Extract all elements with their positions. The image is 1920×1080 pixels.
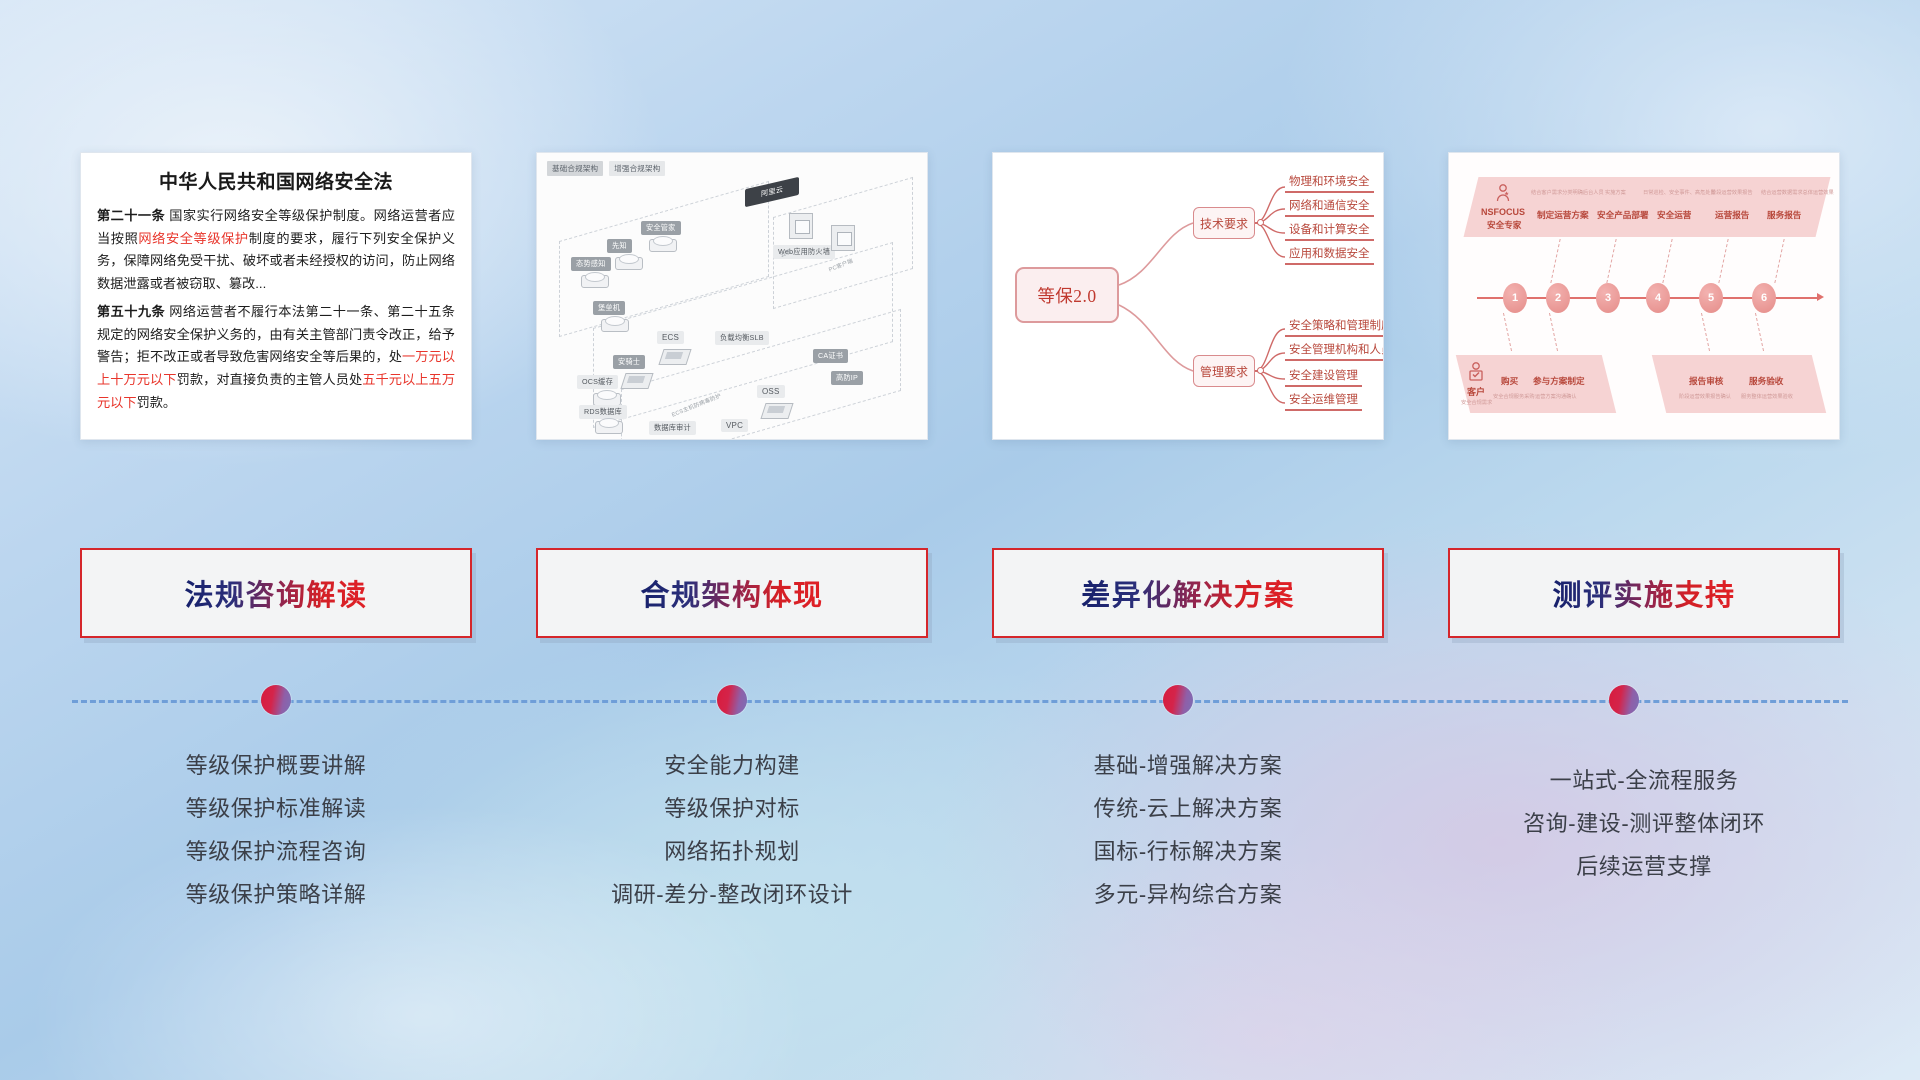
- architecture-server-cloudshield: [789, 213, 813, 239]
- architecture-node-vpc: VPC: [721, 419, 748, 432]
- architecture-box-ecs: [659, 343, 689, 365]
- flow-tick-5: [1774, 239, 1784, 283]
- flow-customer-sub: 安全合规需求: [1461, 399, 1492, 406]
- mindmap-branch-technical: 技术要求: [1193, 207, 1255, 239]
- timeline-dot-3[interactable]: [1163, 685, 1193, 715]
- flow-bottom-band-right: [1652, 355, 1826, 413]
- list-item: 等级保护标准解读: [80, 788, 472, 831]
- list-item: 后续运营支撑: [1448, 846, 1840, 889]
- flow-node-6: 6: [1752, 283, 1776, 313]
- flow-customer-label: 客户: [1467, 385, 1485, 398]
- customer-icon: [1467, 361, 1485, 386]
- card-nsfocus-service-flow: NSFOCUS 安全专家 结合客户需求分类明确后台人员 制定运营方案 实施方案 …: [1448, 152, 1840, 440]
- architecture-box-oss: [761, 397, 791, 419]
- list-item: 咨询-建设-测评整体闭环: [1448, 803, 1840, 846]
- architecture-node-situation-awareness: 态势感知: [571, 257, 611, 271]
- flow-bottom-sub-3: 阶段运营效果报告确认: [1679, 393, 1731, 400]
- bullet-list-4: 一站式-全流程服务 咨询-建设-测评整体闭环 后续运营支撑: [1448, 760, 1840, 889]
- section-title-3-text: 差异化解决方案: [1081, 572, 1295, 614]
- list-item: 调研-差分-整改闭环设计: [536, 874, 928, 917]
- list-item: 传统-云上解决方案: [992, 788, 1384, 831]
- architecture-node-db-audit: 数据库审计: [649, 421, 696, 435]
- mindmap-leaf-policy-system: 安全策略和管理制度: [1285, 317, 1384, 337]
- timeline-dot-4[interactable]: [1609, 685, 1639, 715]
- mindmap-center-node: 等保2.0: [1015, 267, 1119, 323]
- flow-node-5: 5: [1699, 283, 1723, 313]
- architecture-node-xianzhi: 先知: [607, 239, 632, 253]
- timeline-dashed-line: [72, 700, 1848, 703]
- law-article-59: 第五十九条 网络运营者不履行本法第二十一条、第二十五条规定的网络安全保护义务的，…: [97, 301, 455, 415]
- mindmap-leaf-build-mgmt: 安全建设管理: [1285, 367, 1362, 387]
- section-title-2[interactable]: 合规架构体现: [536, 548, 928, 638]
- architecture-cylinder-4: [601, 315, 627, 331]
- architecture-cylinder-3: [581, 271, 607, 287]
- flow-tick-2: [1606, 239, 1616, 283]
- flow-tick-8: [1701, 313, 1710, 351]
- architecture-box-anqishi: [621, 367, 651, 389]
- law-article-59-text-c: 罚款。: [137, 395, 177, 410]
- mindmap-dot-technical: [1257, 219, 1264, 226]
- flow-bottom-title-1: 购买: [1501, 375, 1518, 387]
- bullet-list-3: 基础-增强解决方案 传统-云上解决方案 国标-行标解决方案 多元-异构综合方案: [992, 745, 1384, 917]
- mindmap-leaf-network-comm: 网络和通信安全: [1285, 197, 1374, 217]
- mindmap-leaf-org-personnel: 安全管理机构和人员: [1285, 341, 1384, 361]
- flow-node-4: 4: [1646, 283, 1670, 313]
- law-title: 中华人民共和国网络安全法: [97, 167, 455, 194]
- card-cybersecurity-law: 中华人民共和国网络安全法 第二十一条 国家实行网络安全等级保护制度。网络运营者应…: [80, 152, 472, 440]
- flow-bottom-title-4: 服务验收: [1749, 375, 1783, 387]
- list-item: 安全能力构建: [536, 745, 928, 788]
- flow-top-title-2: 安全产品部署: [1597, 209, 1649, 221]
- flow-tick-6: [1503, 313, 1512, 351]
- mindmap-leaf-physical-env: 物理和环境安全: [1285, 173, 1374, 193]
- flow-bottom-sub-4: 服务整体运营效果验收: [1741, 393, 1793, 400]
- law-article-21: 第二十一条 国家实行网络安全等级保护制度。网络运营者应当按照网络安全等级保护制度…: [97, 205, 455, 296]
- flow-node-3: 3: [1596, 283, 1620, 313]
- architecture-node-slb: 负载均衡SLB: [715, 331, 769, 345]
- list-item: 等级保护流程咨询: [80, 831, 472, 874]
- flow-top-sub-1: 结合客户需求分类明确后台人员: [1531, 189, 1604, 196]
- architecture-cylinder-ocs: [593, 389, 619, 405]
- architecture-node-ca-cert: CA证书: [813, 349, 848, 363]
- flow-bottom-title-2: 参与方案制定: [1533, 375, 1585, 387]
- flow-top-sub-4: 阶段运营效果报告: [1711, 189, 1753, 196]
- architecture-server-pc-client: [831, 225, 855, 251]
- architecture-cylinder-1: [649, 235, 675, 251]
- section-title-1-text: 法规咨询解读: [184, 572, 367, 614]
- flow-tick-7: [1549, 313, 1558, 351]
- timeline-dot-2[interactable]: [717, 685, 747, 715]
- timeline-dot-1[interactable]: [261, 685, 291, 715]
- architecture-node-security-steward: 安全管家: [641, 221, 681, 235]
- list-item: 等级保护策略详解: [80, 874, 472, 917]
- flow-tick-3: [1662, 239, 1672, 283]
- section-title-1[interactable]: 法规咨询解读: [80, 548, 472, 638]
- section-title-4[interactable]: 测评实施支持: [1448, 548, 1840, 638]
- mindmap-leaf-ops-mgmt: 安全运维管理: [1285, 391, 1362, 411]
- law-article-59-text-b: 罚款，对直接负责的主管人员处: [177, 372, 363, 387]
- slide-stage: 中华人民共和国网络安全法 第二十一条 国家实行网络安全等级保护制度。网络运营者应…: [0, 0, 1920, 1080]
- flow-bottom-sub-1: 安全合规服务采购: [1493, 393, 1535, 400]
- mindmap-dot-management: [1257, 367, 1264, 374]
- flow-bottom-title-3: 报告审核: [1689, 375, 1723, 387]
- mindmap-leaf-device-compute: 设备和计算安全: [1285, 221, 1374, 241]
- flow-brand-name: NSFOCUS: [1481, 207, 1525, 217]
- architecture-cylinder-2: [615, 253, 641, 269]
- architecture-tab-basic[interactable]: 基础合规架构: [547, 161, 603, 176]
- list-item: 国标-行标解决方案: [992, 831, 1384, 874]
- law-article-59-label: 第五十九条: [97, 304, 165, 319]
- flow-node-1: 1: [1503, 283, 1527, 313]
- flow-top-title-5: 服务报告: [1767, 209, 1801, 221]
- architecture-cylinder-rds: [595, 417, 621, 433]
- flow-node-2: 2: [1546, 283, 1570, 313]
- architecture-node-bastion-host: 堡垒机: [593, 301, 625, 315]
- architecture-node-ocs-cache: OCS缓存: [577, 375, 618, 389]
- flow-top-title-3: 安全运营: [1657, 209, 1691, 221]
- section-title-3[interactable]: 差异化解决方案: [992, 548, 1384, 638]
- flow-top-title-1: 制定运营方案: [1537, 209, 1589, 221]
- flow-top-sub-2: 实施方案: [1605, 189, 1626, 196]
- card-mindmap-dengbao: 等保2.0 技术要求 物理和环境安全 网络和通信安全 设备和计算安全 应用和数据…: [992, 152, 1384, 440]
- list-item: 一站式-全流程服务: [1448, 760, 1840, 803]
- flow-bottom-sub-2: 运营方案沟通确认: [1535, 393, 1577, 400]
- mindmap-branch-management: 管理要求: [1193, 355, 1255, 387]
- bullet-list-1: 等级保护概要讲解 等级保护标准解读 等级保护流程咨询 等级保护策略详解: [80, 745, 472, 917]
- expert-icon: [1493, 183, 1513, 208]
- flow-axis-arrow: [1817, 293, 1824, 301]
- architecture-node-anti-ddos: 高防IP: [831, 371, 863, 385]
- architecture-tab-enhanced[interactable]: 增强合规架构: [609, 161, 665, 176]
- flow-tick-4: [1718, 239, 1728, 283]
- list-item: 网络拓扑规划: [536, 831, 928, 874]
- flow-tick-1: [1550, 239, 1560, 283]
- flow-brand-sub: 安全专家: [1487, 219, 1521, 231]
- bullet-list-2: 安全能力构建 等级保护对标 网络拓扑规划 调研-差分-整改闭环设计: [536, 745, 928, 917]
- list-item: 基础-增强解决方案: [992, 745, 1384, 788]
- flow-top-title-4: 运营报告: [1715, 209, 1749, 221]
- law-article-21-highlight: 网络安全等级保护: [138, 231, 248, 246]
- list-item: 等级保护对标: [536, 788, 928, 831]
- section-title-2-text: 合规架构体现: [640, 572, 823, 614]
- section-title-4-text: 测评实施支持: [1552, 572, 1735, 614]
- flow-top-sub-5: 结合运营数据需求总体运营效果: [1761, 189, 1834, 196]
- flow-top-sub-3: 日常巡检、安全事件、高危处置: [1643, 189, 1716, 196]
- law-article-21-label: 第二十一条: [97, 208, 165, 223]
- architecture-tabs: 基础合规架构 增强合规架构: [547, 161, 665, 176]
- mindmap-leaf-app-data: 应用和数据安全: [1285, 245, 1374, 265]
- card-compliance-architecture: 基础合规架构 增强合规架构 阿里云 安全管家 先知 态势感知 堡垒机 Web应用…: [536, 152, 928, 440]
- list-item: 等级保护概要讲解: [80, 745, 472, 788]
- list-item: 多元-异构综合方案: [992, 874, 1384, 917]
- flow-tick-9: [1755, 313, 1764, 351]
- architecture-node-aliyun: 阿里云: [745, 177, 799, 208]
